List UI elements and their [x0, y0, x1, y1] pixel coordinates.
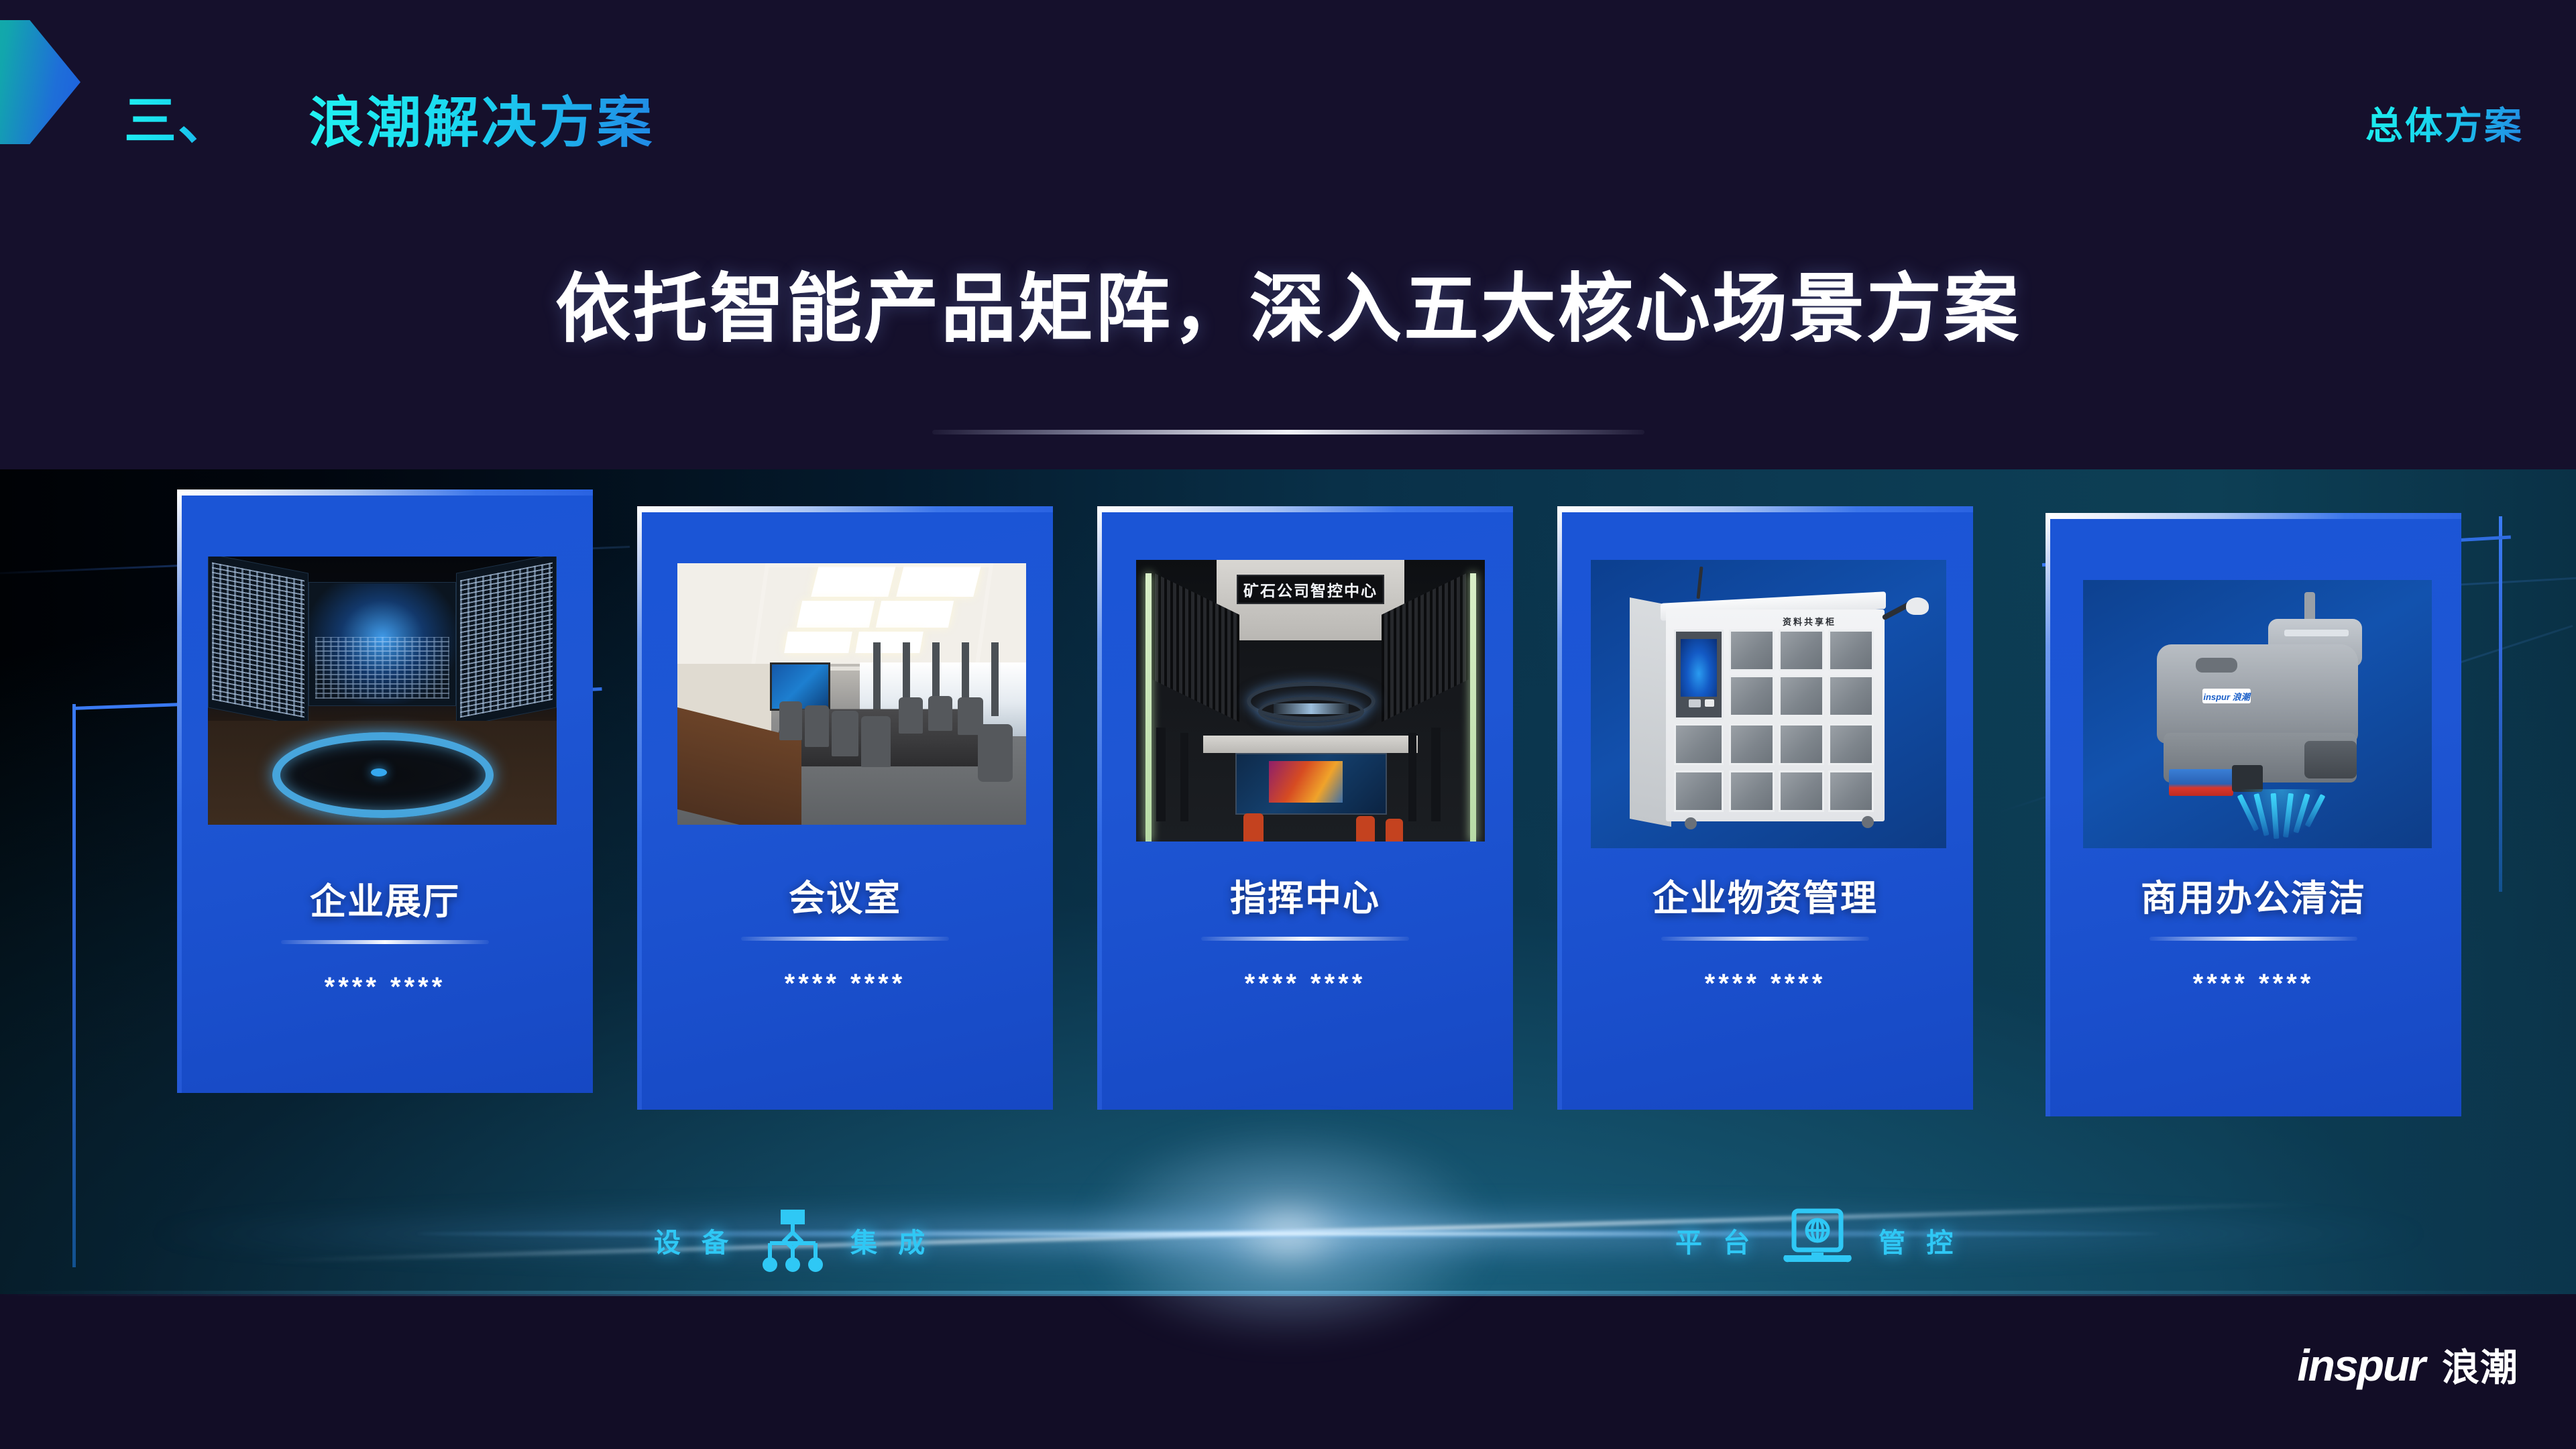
card-title: 企业物资管理: [1557, 868, 1973, 921]
scenario-card[interactable]: 企业展厅 **** ****: [177, 489, 593, 1093]
card-top-border: [637, 506, 1053, 512]
card-left-border: [637, 506, 642, 1110]
heading-divider: [932, 430, 1644, 434]
tagline-prefix-label: 设 备: [654, 1221, 735, 1260]
scenario-card[interactable]: 矿石公司智控中心 指挥中心 **** ****: [1097, 506, 1513, 1110]
locker-label-text: 资料共享柜: [1783, 615, 1836, 628]
brand-logo: inspur 浪潮: [2297, 1338, 2518, 1392]
header-background-band: [0, 0, 2576, 469]
brand-logo-cn: 浪潮: [2442, 1338, 2518, 1392]
card-left-border: [177, 489, 182, 1093]
card-divider: [2149, 937, 2357, 941]
scenario-card[interactable]: inspur 浪潮 商用办公清洁 **** ****: [2046, 513, 2461, 1116]
card-top-border: [1097, 506, 1513, 512]
card-divider: [1201, 937, 1409, 941]
card-divider: [1661, 937, 1869, 941]
robot-brand-text: inspur 浪潮: [2203, 690, 2249, 703]
card-left-border: [1097, 506, 1102, 1110]
brand-logo-en: inspur: [2297, 1340, 2424, 1391]
card-top-border: [2046, 513, 2461, 519]
section-tag-badge: 总体方案: [2365, 96, 2524, 150]
tagline-platform-control: 平 台 管 控: [1675, 1206, 1960, 1275]
card-meta: **** ****: [177, 972, 593, 1002]
card-title: 会议室: [637, 868, 1053, 921]
card-divider: [741, 937, 949, 941]
card-title: 企业展厅: [177, 872, 593, 925]
section-number: 三、: [124, 79, 231, 154]
enterprise-exhibition-hall-photo: [208, 557, 557, 825]
card-top-border: [1557, 506, 1973, 512]
section-title: 浪潮解决方案: [309, 78, 655, 158]
card-left-border: [1557, 506, 1562, 1110]
smart-locker-cabinet-photo: 资料共享柜: [1591, 560, 1946, 848]
card-meta: **** ****: [1097, 969, 1513, 999]
tagline-prefix-label: 平 台: [1675, 1221, 1756, 1260]
network-topology-icon: [758, 1206, 828, 1275]
card-left-border: [2046, 513, 2050, 1116]
tagline-device-integration: 设 备 集 成: [654, 1206, 932, 1275]
card-title: 商用办公清洁: [2046, 868, 2461, 921]
cleaning-robot-photo: inspur 浪潮: [2083, 580, 2432, 848]
page-title: 依托智能产品矩阵，深入五大核心场景方案: [0, 248, 2576, 357]
scenario-card[interactable]: 会议室 **** ****: [637, 506, 1053, 1110]
card-divider: [281, 940, 489, 944]
card-meta: **** ****: [637, 969, 1053, 999]
card-title: 指挥中心: [1097, 868, 1513, 921]
command-center-sign-text: 矿石公司智控中心: [1243, 578, 1378, 601]
card-meta: **** ****: [1557, 969, 1973, 999]
scenario-card[interactable]: 资料共享柜 企业物资管理 **** ****: [1557, 506, 1973, 1110]
laptop-globe-icon: [1779, 1206, 1856, 1275]
card-meta: **** ****: [2046, 969, 2461, 999]
conference-room-photo: [677, 563, 1026, 825]
tagline-suffix-label: 管 控: [1879, 1221, 1960, 1260]
tagline-suffix-label: 集 成: [850, 1221, 932, 1260]
command-center-photo: 矿石公司智控中心: [1136, 560, 1485, 842]
card-top-border: [177, 489, 593, 496]
